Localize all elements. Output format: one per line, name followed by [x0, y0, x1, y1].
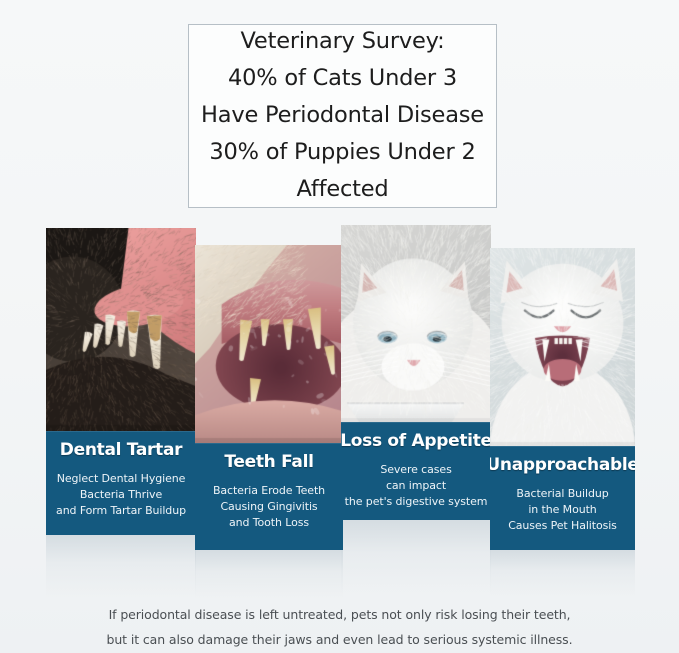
card-caption-1: Dental Tartar Neglect Dental Hygiene Bac… [46, 431, 196, 535]
card-title-teeth-fall: Teeth Fall [224, 452, 313, 473]
symptom-card-deck: Dental Tartar Neglect Dental Hygiene Bac… [0, 0, 679, 653]
white-cat-open-mouth-hissing-photo [490, 248, 635, 446]
card-body-4: Bacterial Buildup in the Mouth Causes Pe… [508, 486, 617, 534]
card-body-line: Causes Pet Halitosis [508, 518, 617, 534]
card-caption-3: Loss of Appetite Severe cases can impact… [341, 422, 491, 520]
symptom-card-loss-of-appetite: Loss of Appetite Severe cases can impact… [341, 225, 491, 520]
card-body-3: Severe cases can impact the pet's digest… [345, 462, 488, 510]
footer-caption: If periodontal disease is left untreated… [0, 602, 679, 652]
card-body-line: the pet's digestive system [345, 494, 488, 510]
footer-line-2: but it can also damage their jaws and ev… [0, 627, 679, 652]
card-body-1: Neglect Dental Hygiene Bacteria Thrive a… [56, 471, 186, 519]
card-body-line: Bacteria Thrive [56, 487, 186, 503]
card-body-2: Bacteria Erode Teeth Causing Gingivitis … [213, 483, 325, 531]
card-body-line: Bacteria Erode Teeth [213, 483, 325, 499]
card-body-line: can impact [345, 478, 488, 494]
footer-line-1: If periodontal disease is left untreated… [0, 602, 679, 627]
symptom-card-dental-tartar: Dental Tartar Neglect Dental Hygiene Bac… [46, 228, 196, 535]
card-body-line: Neglect Dental Hygiene [56, 471, 186, 487]
card-body-line: and Form Tartar Buildup [56, 503, 186, 519]
symptom-card-unapproachable: Unapproachable Bacterial Buildup in the … [490, 248, 635, 550]
card-caption-2: Teeth Fall Bacteria Erode Teeth Causing … [195, 443, 343, 550]
card-body-line: Bacterial Buildup [508, 486, 617, 502]
card-caption-4: Unapproachable Bacterial Buildup in the … [490, 446, 635, 550]
card-title-loss-of-appetite: Loss of Appetite [341, 431, 491, 452]
white-cat-at-food-bowl-photo [341, 225, 491, 422]
symptom-card-teeth-fall: Teeth Fall Bacteria Erode Teeth Causing … [195, 245, 343, 550]
card-title-unapproachable: Unapproachable [490, 455, 635, 476]
card-title-dental-tartar: Dental Tartar [60, 440, 182, 461]
dog-gingivitis-gums-photo [195, 245, 343, 443]
card-body-line: in the Mouth [508, 502, 617, 518]
card-body-line: Causing Gingivitis [213, 499, 325, 515]
card-body-line: and Tooth Loss [213, 515, 325, 531]
card-body-line: Severe cases [345, 462, 488, 478]
dog-muzzle-tartar-teeth-photo [46, 228, 196, 431]
